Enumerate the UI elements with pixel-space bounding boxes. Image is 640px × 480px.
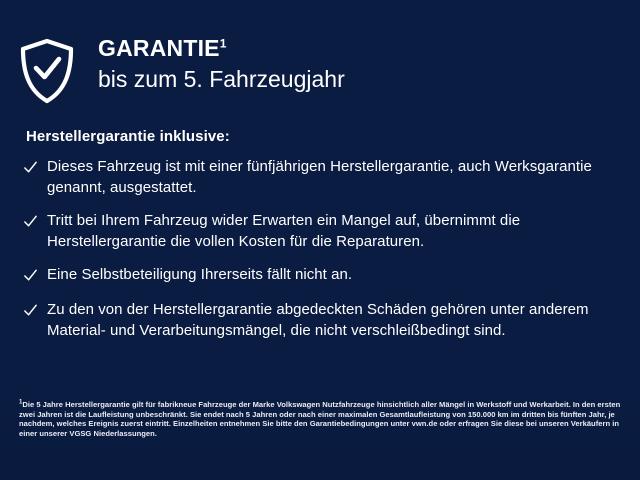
check-icon: [23, 211, 45, 233]
check-icon: [23, 300, 45, 322]
shield-check-icon: [18, 38, 76, 104]
page-title: GARANTIE1: [98, 34, 345, 62]
card-header: GARANTIE1 bis zum 5. Fahrzeugjahr: [18, 34, 345, 104]
check-icon: [23, 157, 45, 179]
page-title-superscript: 1: [220, 36, 227, 50]
benefits-list: Dieses Fahrzeug ist mit einer fünfjährig…: [23, 156, 617, 341]
list-item: Eine Selbstbeteiligung Ihrerseits fällt …: [23, 264, 617, 287]
page-title-text: GARANTIE: [98, 35, 220, 61]
list-item-label: Eine Selbstbeteiligung Ihrerseits fällt …: [45, 264, 352, 285]
check-icon: [23, 265, 45, 287]
section-subheading: Herstellergarantie inklusive:: [26, 128, 230, 145]
list-item-label: Dieses Fahrzeug ist mit einer fünfjährig…: [45, 156, 617, 198]
guarantee-info-card: GARANTIE1 bis zum 5. Fahrzeugjahr Herste…: [0, 0, 640, 480]
page-subtitle: bis zum 5. Fahrzeugjahr: [98, 64, 345, 94]
footnote-text: Die 5 Jahre Herstellergarantie gilt für …: [19, 400, 620, 438]
list-item: Tritt bei Ihrem Fahrzeug wider Erwarten …: [23, 210, 617, 252]
header-text-block: GARANTIE1 bis zum 5. Fahrzeugjahr: [98, 34, 345, 94]
footnote: 1Die 5 Jahre Herstellergarantie gilt für…: [19, 400, 624, 438]
list-item: Dieses Fahrzeug ist mit einer fünfjährig…: [23, 156, 617, 198]
list-item-label: Zu den von der Herstellergarantie abgede…: [45, 299, 617, 341]
list-item-label: Tritt bei Ihrem Fahrzeug wider Erwarten …: [45, 210, 617, 252]
list-item: Zu den von der Herstellergarantie abgede…: [23, 299, 617, 341]
